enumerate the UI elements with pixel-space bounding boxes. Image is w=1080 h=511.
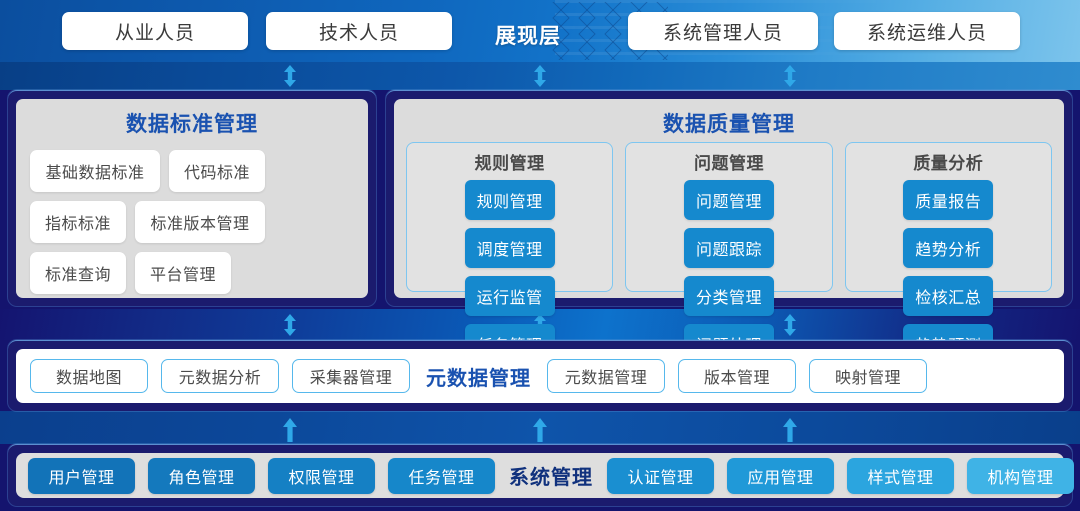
quality-group-rule-management: 规则管理 规则管理 调度管理 运行监管 任务管理	[406, 142, 613, 292]
chip-mapping-management[interactable]: 映射管理	[809, 359, 927, 393]
panel-system-management: 用户管理 角色管理 权限管理 任务管理 系统管理 认证管理 应用管理 样式管理 …	[8, 444, 1072, 506]
chip-rule-management[interactable]: 规则管理	[465, 180, 555, 220]
role-pill-practitioner[interactable]: 从业人员	[62, 12, 248, 50]
chip-category-management[interactable]: 分类管理	[684, 276, 774, 316]
double-arrow-icon	[279, 314, 301, 336]
standard-chip-version-mgmt[interactable]: 标准版本管理	[135, 201, 265, 243]
metadata-card-body: 数据地图 元数据分析 采集器管理 元数据管理 元数据管理 版本管理 映射管理	[16, 349, 1064, 403]
role-pill-system-admin[interactable]: 系统管理人员	[628, 12, 818, 50]
architecture-diagram: 从业人员 技术人员 展现层 系统管理人员 系统运维人员 数据标准管理 基础数据标…	[0, 0, 1080, 511]
group-title-quality-analysis: 质量分析	[846, 143, 1051, 174]
chip-org-management[interactable]: 机构管理	[967, 458, 1074, 494]
connector-band-bottom	[0, 411, 1080, 444]
quality-group-issue-management: 问题管理 问题管理 问题跟踪 分类管理 问题处理	[625, 142, 832, 292]
chip-task-management-sys[interactable]: 任务管理	[388, 458, 495, 494]
chip-trend-analysis[interactable]: 趋势分析	[903, 228, 993, 268]
chip-style-management[interactable]: 样式管理	[847, 458, 954, 494]
chip-metadata-management[interactable]: 元数据管理	[547, 359, 665, 393]
chip-collector-management[interactable]: 采集器管理	[292, 359, 410, 393]
standard-chip-grid: 基础数据标准 代码标准 指标标准 标准版本管理 标准查询 平台管理	[16, 138, 368, 294]
group-title-issue-management: 问题管理	[626, 143, 831, 174]
chip-app-management[interactable]: 应用管理	[727, 458, 834, 494]
chip-data-map[interactable]: 数据地图	[30, 359, 148, 393]
quality-group-quality-analysis: 质量分析 质量报告 趋势分析 检核汇总 趋势预测	[845, 142, 1052, 292]
chip-issue-tracking[interactable]: 问题跟踪	[684, 228, 774, 268]
standard-chip-code[interactable]: 代码标准	[169, 150, 265, 192]
quality-analysis-chip-grid: 质量报告 趋势分析 检核汇总 趋势预测	[846, 174, 1051, 364]
metadata-right-group: 元数据管理 版本管理 映射管理	[547, 359, 927, 393]
metadata-left-group: 数据地图 元数据分析 采集器管理	[30, 359, 410, 393]
standard-chip-basic-data[interactable]: 基础数据标准	[30, 150, 160, 192]
system-right-group: 认证管理 应用管理 样式管理 机构管理	[607, 458, 1074, 494]
presentation-layer-label: 展现层	[495, 20, 561, 50]
metadata-layer-label: 元数据管理	[426, 362, 531, 391]
up-arrow-icon	[529, 418, 551, 442]
chip-permission-management[interactable]: 权限管理	[268, 458, 375, 494]
panel-data-quality-management: 数据质量管理 规则管理 规则管理 调度管理 运行监管 任务管理 问题管理	[386, 90, 1072, 306]
standard-chip-query[interactable]: 标准查询	[30, 252, 126, 294]
chip-user-management[interactable]: 用户管理	[28, 458, 135, 494]
chip-metadata-analysis[interactable]: 元数据分析	[161, 359, 279, 393]
issue-management-chip-grid: 问题管理 问题跟踪 分类管理 问题处理	[626, 174, 831, 364]
group-title-rule-management: 规则管理	[407, 143, 612, 174]
quality-group-row: 规则管理 规则管理 调度管理 运行监管 任务管理 问题管理 问题管理 问题跟踪	[394, 138, 1064, 292]
presentation-layer-bar: 从业人员 技术人员 展现层 系统管理人员 系统运维人员	[0, 0, 1080, 62]
double-arrow-icon	[779, 65, 801, 87]
role-pill-system-ops[interactable]: 系统运维人员	[834, 12, 1020, 50]
chip-issue-management[interactable]: 问题管理	[684, 180, 774, 220]
chip-quality-report[interactable]: 质量报告	[903, 180, 993, 220]
quality-card-body: 数据质量管理 规则管理 规则管理 调度管理 运行监管 任务管理 问题管理	[394, 99, 1064, 298]
system-layer-label: 系统管理	[509, 461, 593, 490]
chip-role-management[interactable]: 角色管理	[148, 458, 255, 494]
up-arrow-icon	[279, 418, 301, 442]
standard-chip-platform-mgmt[interactable]: 平台管理	[135, 252, 231, 294]
standard-chip-indicator[interactable]: 指标标准	[30, 201, 126, 243]
chip-runtime-monitor[interactable]: 运行监管	[465, 276, 555, 316]
chip-audit-summary[interactable]: 检核汇总	[903, 276, 993, 316]
role-pill-technician[interactable]: 技术人员	[266, 12, 452, 50]
double-arrow-icon	[279, 65, 301, 87]
system-card-body: 用户管理 角色管理 权限管理 任务管理 系统管理 认证管理 应用管理 样式管理 …	[16, 453, 1064, 498]
connector-band-top	[0, 62, 1080, 90]
chip-auth-management[interactable]: 认证管理	[607, 458, 714, 494]
rule-management-chip-grid: 规则管理 调度管理 运行监管 任务管理	[407, 174, 612, 364]
governance-layer: 数据标准管理 基础数据标准 代码标准 指标标准 标准版本管理 标准查询 平台管理…	[8, 90, 1072, 310]
double-arrow-icon	[529, 65, 551, 87]
panel-title-data-standard: 数据标准管理	[16, 99, 368, 138]
system-left-group: 用户管理 角色管理 权限管理 任务管理	[28, 458, 495, 494]
panel-data-standard-management: 数据标准管理 基础数据标准 代码标准 指标标准 标准版本管理 标准查询 平台管理	[8, 90, 376, 306]
up-arrow-icon	[779, 418, 801, 442]
panel-metadata-management: 数据地图 元数据分析 采集器管理 元数据管理 元数据管理 版本管理 映射管理	[8, 340, 1072, 411]
chip-version-management[interactable]: 版本管理	[678, 359, 796, 393]
standard-card-body: 数据标准管理 基础数据标准 代码标准 指标标准 标准版本管理 标准查询 平台管理	[16, 99, 368, 298]
chip-schedule-management[interactable]: 调度管理	[465, 228, 555, 268]
panel-title-data-quality: 数据质量管理	[394, 99, 1064, 138]
